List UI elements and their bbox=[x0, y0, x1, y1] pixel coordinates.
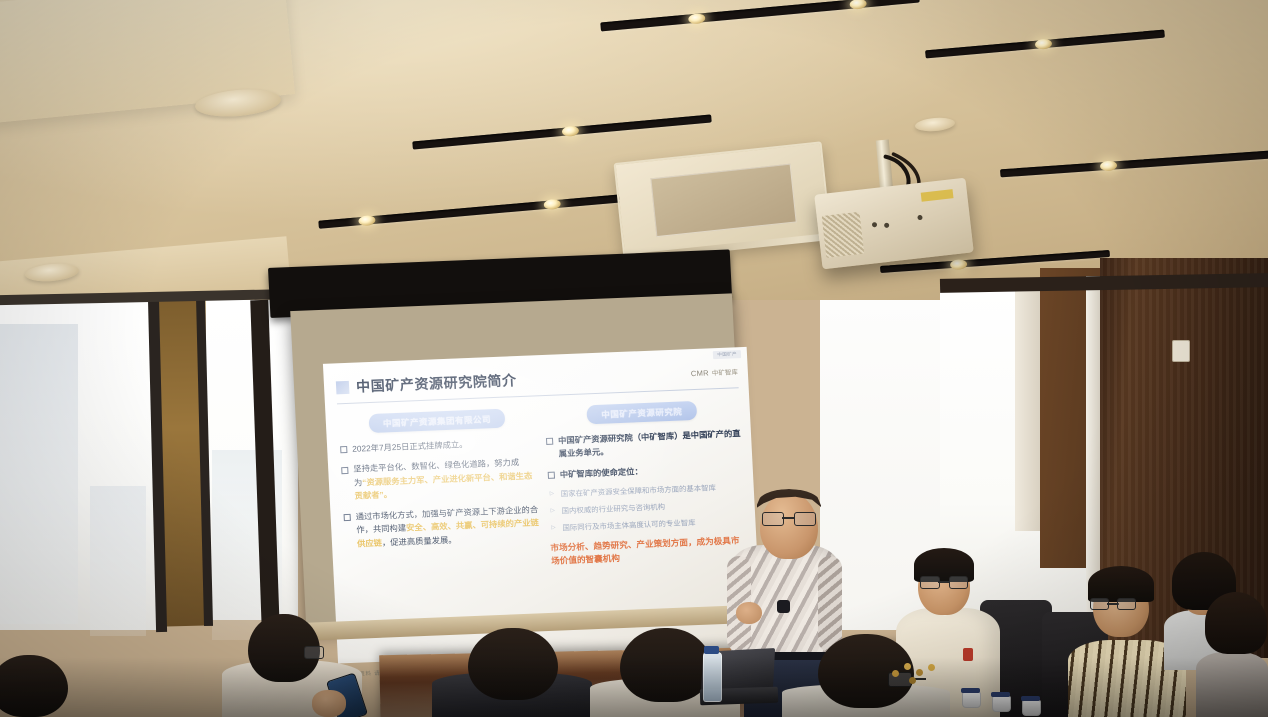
bullet-item: 2022年7月25日正式挂牌成立。 bbox=[339, 435, 538, 456]
bullet-highlight: “资源服务主力军、产业进化新平台、和谐生态贡献者”。 bbox=[354, 470, 532, 501]
attendee-head-back bbox=[468, 628, 558, 700]
sub-bullet-item: 国家在矿产资源安全保障和市场方面的基本智库 bbox=[548, 481, 744, 500]
projector-port-icon bbox=[884, 223, 890, 229]
cmr-swirl-icon bbox=[676, 367, 689, 379]
sub-bullet-text: 国家在矿产资源安全保障和市场方面的基本智库 bbox=[561, 484, 717, 499]
paper-cup bbox=[992, 696, 1011, 712]
brand-cn-name: 中矿智库 bbox=[712, 366, 738, 377]
window-left bbox=[0, 300, 166, 630]
attendee-glasses-icon bbox=[920, 576, 966, 587]
presenter-head bbox=[760, 493, 818, 559]
bullet-text: 中国矿产资源研究院（中矿智库）是中国矿产的直属业务单元。 bbox=[558, 428, 741, 459]
sub-bullet-item: 国内权威的行业研究与咨询机构 bbox=[548, 498, 744, 517]
skyline-building bbox=[90, 486, 146, 636]
projection-screen: 中国矿产 中国矿产资源研究院简介 CMR 中矿智库 bbox=[268, 249, 748, 639]
ac-vent-grille bbox=[650, 163, 797, 236]
sub-bullet-item: 国际同行及市场主体高度认可的专业智库 bbox=[549, 515, 745, 534]
attendee-head-back bbox=[620, 628, 712, 702]
slide-column-right: 中国矿产资源研究院 中国矿产资源研究院（中矿智库）是中国矿产的直属业务单元。 中… bbox=[543, 395, 751, 641]
projector-vent-grille bbox=[822, 212, 865, 258]
slide-column-left: 中国矿产资源集团有限公司 2022年7月25日正式挂牌成立。 坚持走平台化、数智… bbox=[337, 403, 547, 649]
title-square-icon bbox=[336, 381, 350, 395]
sub-bullet-text: 国际同行及市场主体高度认可的专业智库 bbox=[562, 518, 695, 532]
cup-lid bbox=[1021, 696, 1040, 701]
badge-institute: 中国矿产资源研究院 bbox=[587, 401, 697, 424]
bullet-text: 中矿智库的使命定位： bbox=[560, 466, 643, 479]
projector-label bbox=[921, 189, 954, 202]
projector-port-icon bbox=[917, 215, 923, 221]
bullet-item: 坚持走平台化、数智化、绿色化道路，努力成为“资源服务主力军、产业进化新平台、和谐… bbox=[340, 456, 540, 504]
attendee-hair bbox=[1205, 592, 1267, 654]
cup-lid bbox=[961, 688, 980, 693]
attendee-hand bbox=[312, 690, 346, 717]
presenter-glasses-icon bbox=[762, 512, 814, 524]
cup-lid bbox=[991, 692, 1010, 697]
presenter-hands bbox=[736, 602, 762, 624]
bullet-item: 通过市场化方式，加强与矿产资源上下游企业的合作，共同构建安全、高效、共赢、可持续… bbox=[342, 503, 542, 551]
slide-title: 中国矿产资源研究院简介 bbox=[356, 370, 518, 396]
screen-surface-border: 中国矿产 中国矿产资源研究院简介 CMR 中矿智库 bbox=[290, 293, 748, 628]
paper-cup bbox=[1022, 700, 1041, 716]
attendee-torso bbox=[1196, 652, 1268, 717]
attendee-head-back bbox=[0, 655, 68, 717]
attendee-hair bbox=[1088, 566, 1154, 602]
paper-cup bbox=[962, 692, 981, 708]
conference-room-scene: 中国矿产 中国矿产资源研究院简介 CMR 中矿智库 bbox=[0, 0, 1268, 717]
presenter-wristwatch bbox=[777, 600, 790, 613]
slide-header-note: 中国矿产 bbox=[713, 350, 741, 359]
sub-bullet-text: 国内权威的行业研究与咨询机构 bbox=[561, 503, 665, 516]
bullet-item: 中矿智库的使命定位： bbox=[547, 461, 744, 482]
wall-switch-plate[interactable] bbox=[1172, 340, 1190, 362]
brand-abbr: CMR bbox=[691, 368, 709, 378]
presenter-arm-right bbox=[818, 556, 842, 652]
bullet-item: 中国矿产资源研究院（中矿智库）是中国矿产的直属业务单元。 bbox=[545, 427, 742, 462]
closing-statement: 市场分析、趋势研究、产业策划方面，成为极具市场价值的智囊机构 bbox=[550, 534, 747, 569]
table-flower-arrangement bbox=[888, 660, 940, 692]
water-bottle bbox=[703, 652, 722, 702]
attendee-glasses-icon bbox=[1090, 598, 1134, 610]
projector-port-icon bbox=[872, 222, 878, 228]
bullet-text-tail: ，促进高质量发展。 bbox=[382, 534, 457, 547]
brand-logo: CMR 中矿智库 bbox=[676, 365, 739, 379]
bullet-text: 2022年7月25日正式挂牌成立。 bbox=[352, 439, 468, 454]
bottle-cap bbox=[704, 646, 719, 654]
ceiling-ac-unit bbox=[614, 141, 832, 258]
attendee-shirt-logo bbox=[963, 648, 973, 661]
skyline-building bbox=[0, 324, 78, 624]
window-blind bbox=[1015, 286, 1041, 531]
badge-company: 中国矿产资源集团有限公司 bbox=[369, 409, 506, 433]
attendee-glasses-icon bbox=[294, 646, 322, 658]
